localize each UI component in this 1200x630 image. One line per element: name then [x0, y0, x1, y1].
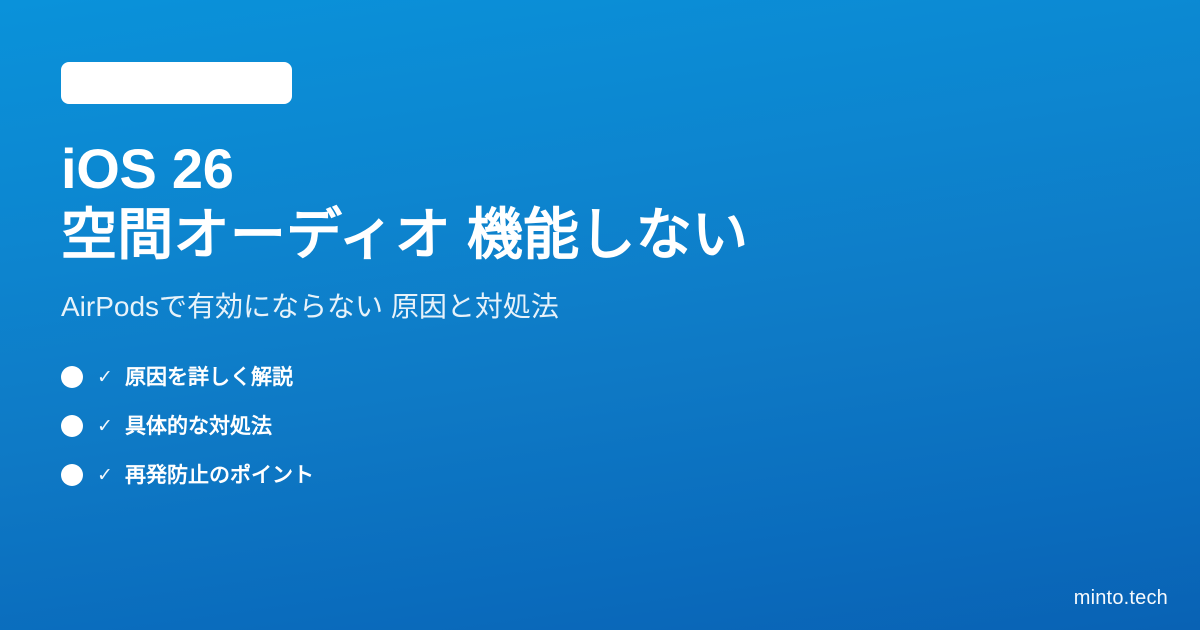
page-title: iOS 26 空間オーディオ 機能しない: [61, 136, 1121, 267]
feature-label: 具体的な対処法: [125, 416, 272, 437]
feature-list: ✓ 原因を詳しく解説 ✓ 具体的な対処法 ✓ 再発防止のポイント: [61, 363, 1121, 489]
site-watermark: minto.tech: [1074, 588, 1168, 608]
hero-card: iOS 26 空間オーディオ 機能しない AirPodsで有効にならない 原因と…: [0, 0, 1200, 630]
page-title-line-1: iOS 26: [61, 136, 1121, 202]
list-item: ✓ 原因を詳しく解説: [61, 363, 1121, 391]
feature-label: 原因を詳しく解説: [125, 367, 293, 388]
bullet-dot-icon: [61, 366, 83, 388]
check-icon: ✓: [95, 417, 115, 436]
feature-label: 再発防止のポイント: [125, 465, 314, 486]
bullet-dot-icon: [61, 464, 83, 486]
category-badge: [61, 62, 292, 104]
list-item: ✓ 再発防止のポイント: [61, 461, 1121, 489]
list-item: ✓ 具体的な対処法: [61, 412, 1121, 440]
check-icon: ✓: [95, 368, 115, 387]
card-content: iOS 26 空間オーディオ 機能しない AirPodsで有効にならない 原因と…: [61, 62, 1121, 489]
page-subtitle: AirPodsで有効にならない 原因と対処法: [61, 289, 1121, 325]
bullet-dot-icon: [61, 415, 83, 437]
check-icon: ✓: [95, 466, 115, 485]
page-title-line-2: 空間オーディオ 機能しない: [61, 202, 1121, 268]
